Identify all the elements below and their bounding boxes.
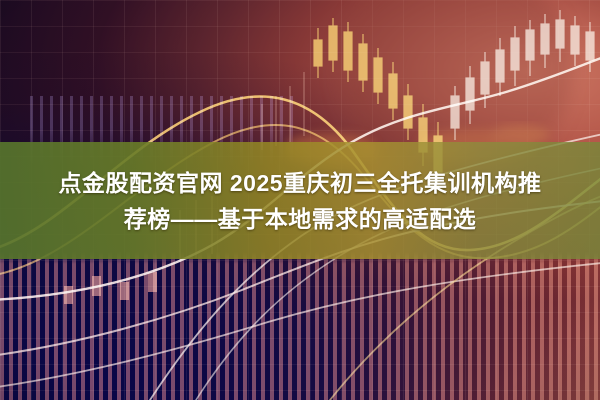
title-line-1: 点金股配资官网 2025重庆初三全托集训机构推 [58, 168, 541, 198]
title-line-2: 荐榜——基于本地需求的高适配选 [124, 204, 477, 234]
banner-image: 点金股配资官网 2025重庆初三全托集训机构推 荐榜——基于本地需求的高适配选 [0, 0, 600, 400]
title-text-block: 点金股配资官网 2025重庆初三全托集训机构推 荐榜——基于本地需求的高适配选 [0, 142, 600, 259]
